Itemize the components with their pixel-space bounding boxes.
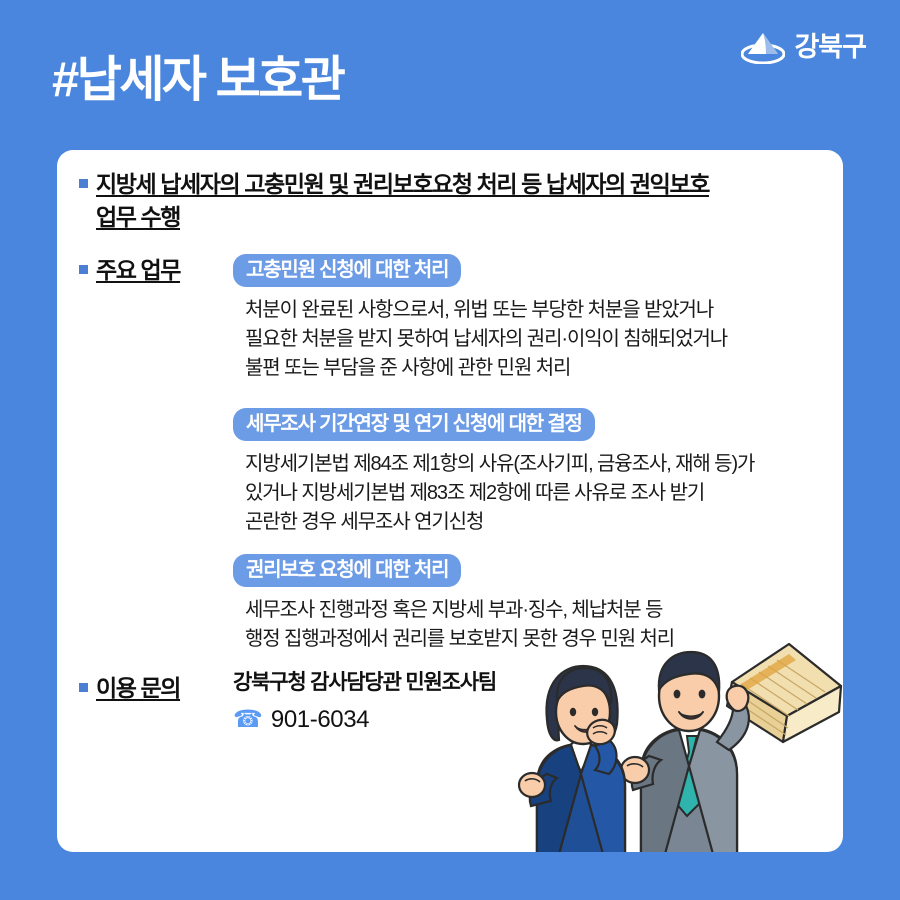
mountain-wave-logo-icon <box>741 30 785 64</box>
task-badge: 고충민원 신청에 대한 처리 <box>233 254 461 287</box>
task-body: 지방세기본법 제84조 제1항의 사유(조사기피, 금융조사, 재해 등)가 있… <box>245 450 754 537</box>
bullet-square-icon <box>79 179 88 188</box>
bullet-square-icon <box>79 265 88 274</box>
contact-team: 강북구청 감사담당관 민원조사팀 <box>233 668 496 697</box>
contact-phone-number[interactable]: 901-6034 <box>271 708 369 732</box>
lead-statement-text: 지방세 납세자의 고충민원 및 권리보호요청 처리 등 납세자의 권익보호 업무… <box>96 168 709 233</box>
tasks-label: 주요 업무 <box>96 254 180 287</box>
lead-statement-row: 지방세 납세자의 고충민원 및 권리보호요청 처리 등 납세자의 권익보호 업무… <box>79 168 824 233</box>
contact-label: 이용 문의 <box>96 672 180 705</box>
tasks-label-row: 주요 업무 <box>79 254 180 287</box>
logo-text: 강북구 <box>794 34 866 61</box>
content-card: 지방세 납세자의 고충민원 및 권리보호요청 처리 등 납세자의 권익보호 업무… <box>57 150 843 852</box>
contact-phone-row[interactable]: ☎ 901-6034 <box>233 708 496 732</box>
contact-label-row: 이용 문의 <box>79 672 180 705</box>
task-block: 고충민원 신청에 대한 처리 처분이 완료된 사항으로서, 위법 또는 부당한 … <box>233 254 727 383</box>
page-title: #납세자 보호관 <box>52 52 343 108</box>
task-block: 세무조사 기간연장 및 연기 신청에 대한 결정 지방세기본법 제84조 제1항… <box>233 408 754 537</box>
telephone-icon: ☎ <box>233 708 263 732</box>
contact-block: 강북구청 감사담당관 민원조사팀 ☎ 901-6034 <box>233 668 496 732</box>
task-badge: 권리보호 요청에 대한 처리 <box>233 554 461 587</box>
infographic-page: 강북구 #납세자 보호관 지방세 납세자의 고충민원 및 권리보호요청 처리 등… <box>0 0 900 900</box>
task-badge: 세무조사 기간연장 및 연기 신청에 대한 결정 <box>233 408 595 441</box>
gangbuk-gu-logo: 강북구 <box>741 30 866 64</box>
task-body: 처분이 완료된 사항으로서, 위법 또는 부당한 처분을 받았거나 필요한 처분… <box>245 296 727 383</box>
bullet-square-icon <box>79 683 88 692</box>
